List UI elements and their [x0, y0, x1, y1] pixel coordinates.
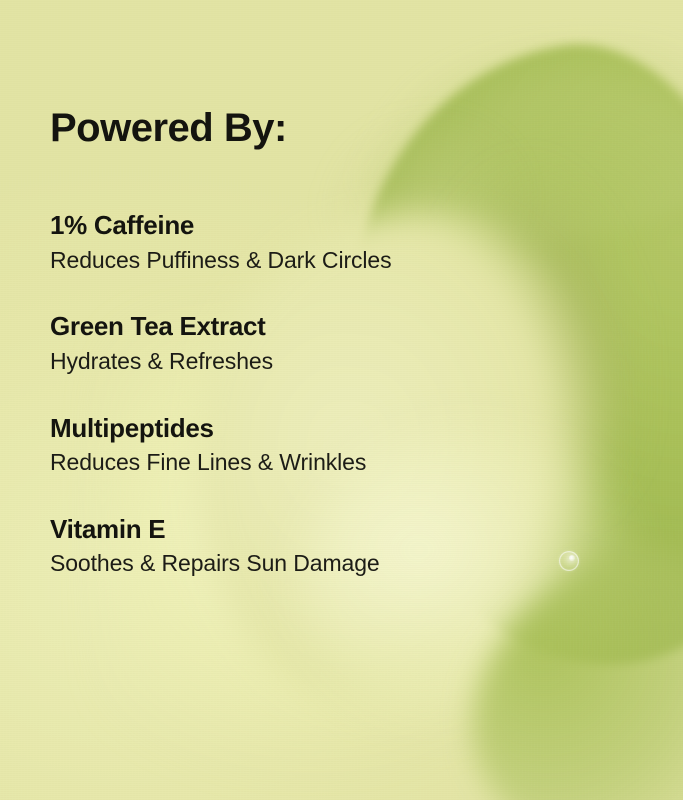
- ingredient-name: Multipeptides: [50, 413, 520, 444]
- list-item: Vitamin E Soothes & Repairs Sun Damage: [50, 514, 520, 578]
- ingredient-name: Green Tea Extract: [50, 311, 520, 342]
- list-item: Multipeptides Reduces Fine Lines & Wrink…: [50, 413, 520, 477]
- powered-by-ingredients-poster: Powered By: 1% Caffeine Reduces Puffines…: [0, 0, 683, 800]
- ingredient-name: 1% Caffeine: [50, 210, 520, 241]
- ingredient-benefit: Hydrates & Refreshes: [50, 348, 520, 376]
- list-item: 1% Caffeine Reduces Puffiness & Dark Cir…: [50, 210, 520, 274]
- list-item: Green Tea Extract Hydrates & Refreshes: [50, 311, 520, 375]
- ingredient-list: 1% Caffeine Reduces Puffiness & Dark Cir…: [50, 210, 520, 578]
- text-content: Powered By: 1% Caffeine Reduces Puffines…: [50, 0, 520, 800]
- ingredient-name: Vitamin E: [50, 514, 520, 545]
- ingredient-benefit: Reduces Fine Lines & Wrinkles: [50, 449, 520, 477]
- ingredient-benefit: Soothes & Repairs Sun Damage: [50, 550, 520, 578]
- ingredient-benefit: Reduces Puffiness & Dark Circles: [50, 247, 520, 275]
- page-title: Powered By:: [50, 108, 287, 148]
